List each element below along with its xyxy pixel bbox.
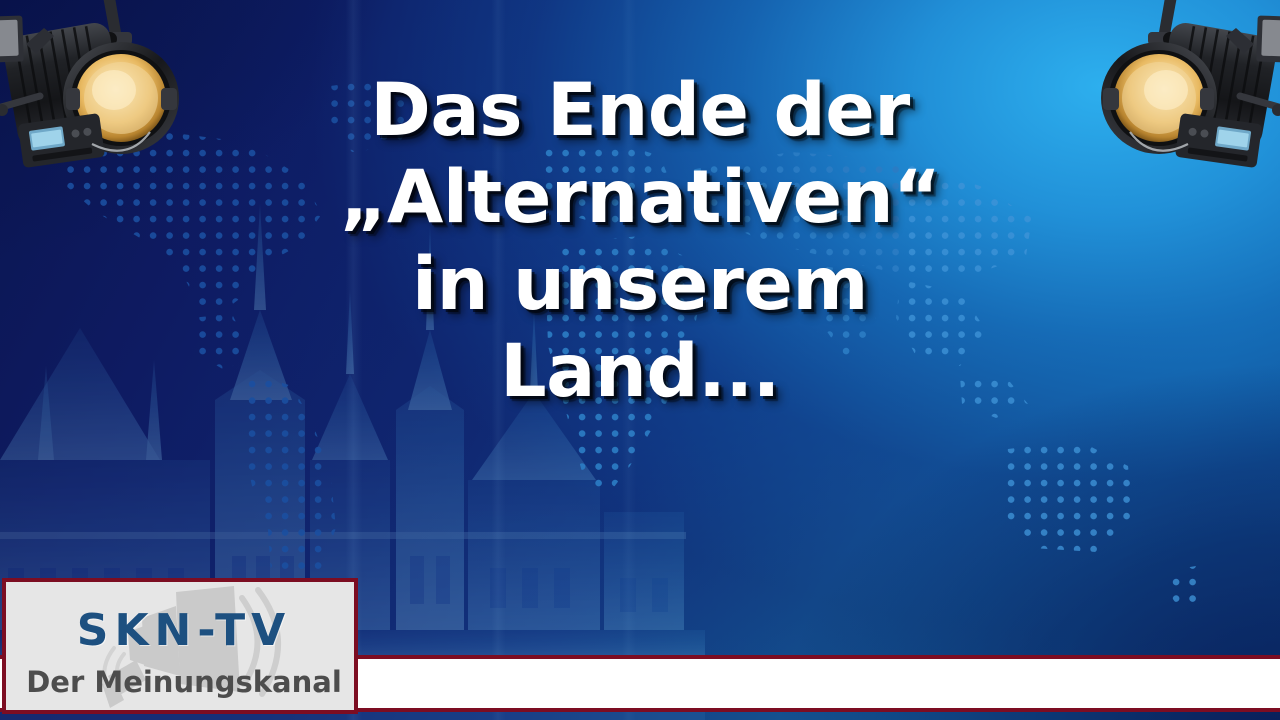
- channel-logo-brand: SKN-TV: [18, 609, 350, 653]
- stage-spotlight-icon-right: [1084, 0, 1280, 177]
- video-thumbnail: Das Ende der „Alternativen“ in unserem L…: [0, 0, 1280, 720]
- stage-spotlight-icon-left: [0, 0, 196, 177]
- channel-logo[interactable]: SKN-TV Der Meinungskanal: [2, 578, 358, 714]
- channel-logo-tagline: Der Meinungskanal: [18, 668, 350, 697]
